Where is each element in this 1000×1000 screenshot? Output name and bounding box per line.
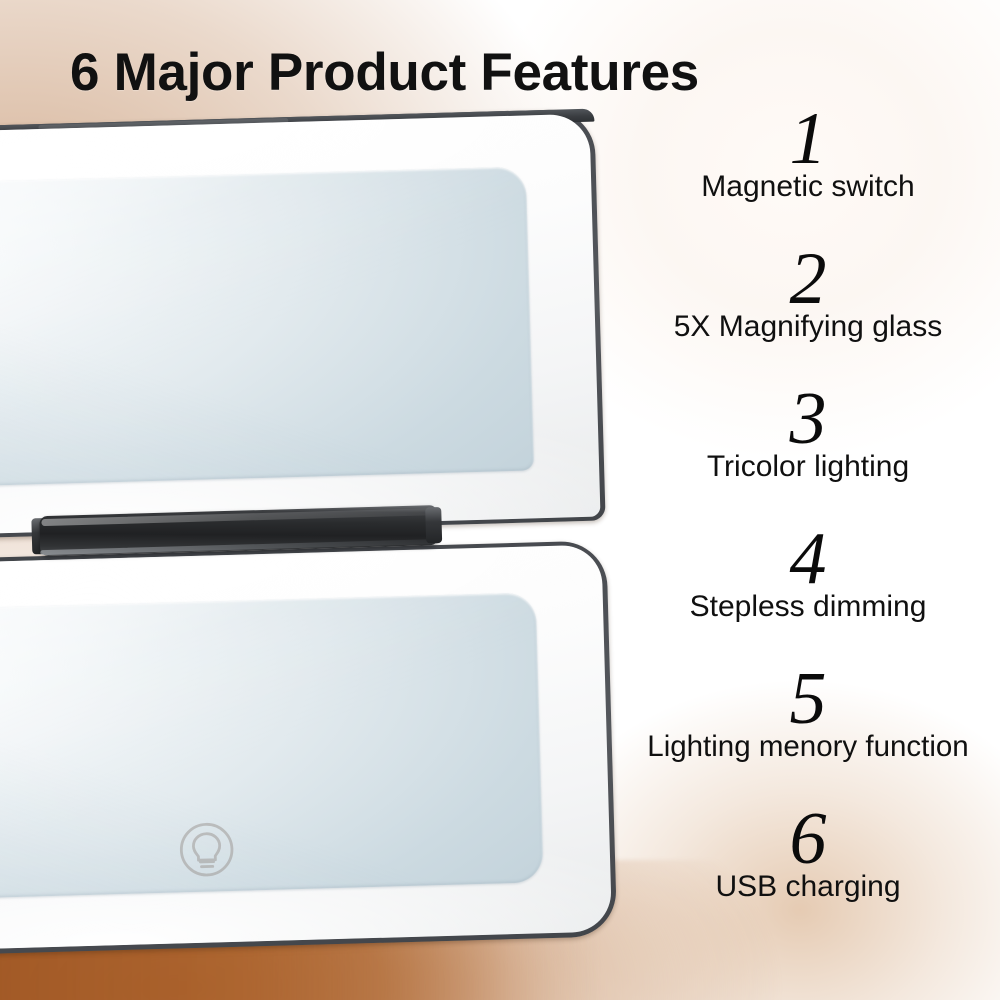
feature-number-4: 4 — [620, 524, 996, 595]
feature-item-1: 1 Magnetic switch — [620, 104, 996, 244]
feature-item-5: 5 Lighting menory function — [620, 664, 996, 804]
feature-number-3: 3 — [620, 384, 996, 455]
feature-label-1: Magnetic switch — [620, 171, 996, 203]
product-feature-poster: 6 Major Product Features 1 Magnetic swit… — [0, 0, 1000, 1000]
feature-label-6: USB charging — [620, 871, 996, 903]
lower-mirror-panel — [0, 540, 617, 960]
feature-item-6: 6 USB charging — [620, 804, 996, 944]
feature-item-3: 3 Tricolor lighting — [620, 384, 996, 524]
page-title: 6 Major Product Features — [70, 42, 699, 103]
feature-number-6: 6 — [620, 804, 996, 875]
feature-item-4: 4 Stepless dimming — [620, 524, 996, 664]
lower-mirror-glass — [0, 592, 544, 904]
feature-number-5: 5 — [620, 664, 996, 735]
light-bulb-touch-button[interactable] — [176, 819, 238, 881]
feature-list: 1 Magnetic switch 2 5X Magnifying glass … — [620, 104, 996, 944]
hinge-cap-right — [425, 507, 442, 543]
upper-mirror-panel — [0, 109, 606, 545]
feature-number-1: 1 — [620, 104, 996, 175]
upper-mirror-glass — [0, 166, 534, 492]
feature-label-4: Stepless dimming — [620, 591, 996, 623]
feature-number-2: 2 — [620, 244, 996, 315]
feature-label-5: Lighting menory function — [620, 731, 996, 762]
feature-label-3: Tricolor lighting — [620, 451, 996, 483]
feature-label-2: 5X Magnifying glass — [620, 311, 996, 343]
feature-item-2: 2 5X Magnifying glass — [620, 244, 996, 384]
folding-led-makeup-mirror — [0, 108, 642, 972]
